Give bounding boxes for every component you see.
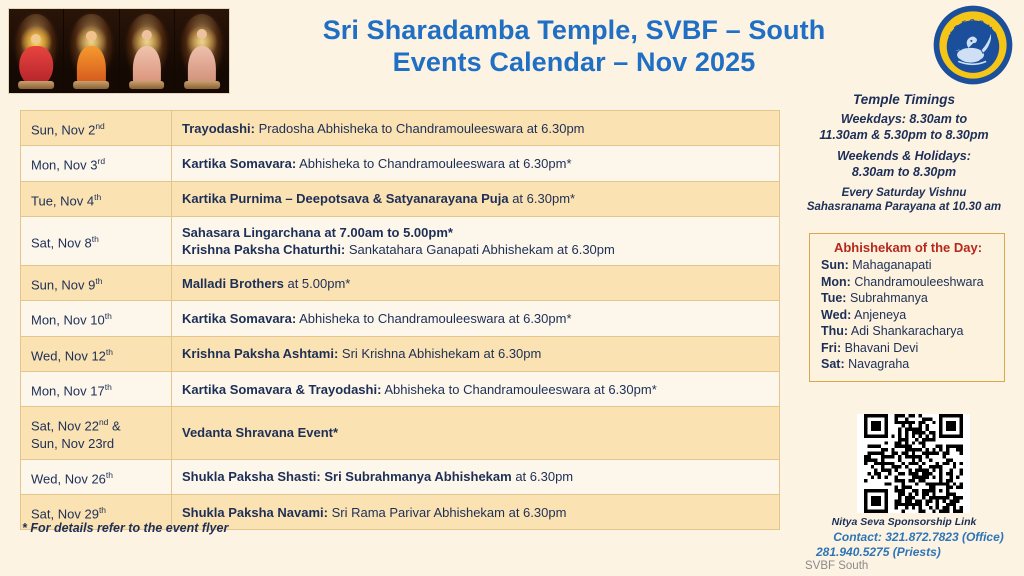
qr-code-icon[interactable] xyxy=(857,414,970,513)
deity-panel-sharadamba xyxy=(9,9,64,93)
event-description-cell: Shukla Paksha Navami: Sri Rama Parivar A… xyxy=(172,494,780,529)
event-date-cell: Sun, Nov 2nd xyxy=(21,111,172,146)
event-line: Krishna Paksha Ashtami: Sri Krishna Abhi… xyxy=(182,345,769,362)
abhishekam-day-row: Sat: Navagraha xyxy=(821,356,995,373)
event-detail: Pradosha Abhisheka to Chandramouleeswara… xyxy=(255,121,585,136)
event-name: Kartika Somavara: xyxy=(182,311,296,326)
temple-timings-title: Temple Timings xyxy=(790,92,1018,107)
svbf-south-swan-emblem-icon: S V B F S O U T H xyxy=(932,4,1014,86)
events-table-body: Sun, Nov 2ndTrayodashi: Pradosha Abhishe… xyxy=(21,111,780,530)
event-description-cell: Kartika Somavara & Trayodashi: Abhisheka… xyxy=(172,371,780,406)
abhishekam-day-row: Wed: Anjeneya xyxy=(821,307,995,324)
abhishekam-deity-name: Chandramouleeshwara xyxy=(851,275,984,289)
table-row: Mon, Nov 3rdKartika Somavara: Abhisheka … xyxy=(21,146,780,181)
abhishekam-day-label: Thu: xyxy=(821,324,848,338)
abhishekam-day-row: Thu: Adi Shankaracharya xyxy=(821,323,995,340)
event-description-cell: Kartika Purnima – Deepotsava & Satyanara… xyxy=(172,181,780,216)
event-line: Shukla Paksha Navami: Sri Rama Parivar A… xyxy=(182,504,769,521)
event-date-cell: Wed, Nov 26th xyxy=(21,459,172,494)
event-date-cell: Wed, Nov 12th xyxy=(21,336,172,371)
event-name: Shukla Paksha Shasti: Sri Subrahmanya Ab… xyxy=(182,469,512,484)
saturday-parayana-line-2: Sahasranama Parayana at 10.30 am xyxy=(790,200,1018,214)
weekend-timing-line-2: 8.30am to 8.30pm xyxy=(790,165,1018,181)
table-row: Sat, Nov 8thSahasara Lingarchana at 7.00… xyxy=(21,216,780,265)
abhishekam-deity-name: Adi Shankaracharya xyxy=(848,324,963,338)
event-name: Malladi Brothers xyxy=(182,276,284,291)
event-description-cell: Malladi Brothers at 5.00pm* xyxy=(172,265,780,300)
table-footnote: * For details refer to the event flyer xyxy=(22,521,228,535)
abhishekam-day-label: Sun: xyxy=(821,258,849,272)
event-line: Kartika Somavara: Abhisheka to Chandramo… xyxy=(182,155,769,172)
event-description-cell: Kartika Somavara: Abhisheka to Chandramo… xyxy=(172,301,780,336)
abhishekam-day-label: Fri: xyxy=(821,341,841,355)
event-description-cell: Kartika Somavara: Abhisheka to Chandramo… xyxy=(172,146,780,181)
event-detail: at 6.30pm xyxy=(512,469,573,484)
abhishekam-day-label: Sat: xyxy=(821,357,845,371)
contact-priests-line: 281.940.5275 (Priests) xyxy=(816,545,1021,560)
event-detail: Sri Rama Parivar Abhishekam at 6.30pm xyxy=(328,505,566,520)
event-date-cell: Tue, Nov 4th xyxy=(21,181,172,216)
abhishekam-deity-name: Bhavani Devi xyxy=(841,341,918,355)
table-row: Mon, Nov 17thKartika Somavara & Trayodas… xyxy=(21,371,780,406)
event-description-cell: Shukla Paksha Shasti: Sri Subrahmanya Ab… xyxy=(172,459,780,494)
event-name: Krishna Paksha Chaturthi: xyxy=(182,242,345,257)
deity-panel-adi-shankaracharya xyxy=(64,9,119,93)
event-date-cell: Sat, Nov 8th xyxy=(21,216,172,265)
event-line: Kartika Somavara: Abhisheka to Chandramo… xyxy=(182,310,769,327)
table-row: Wed, Nov 12thKrishna Paksha Ashtami: Sri… xyxy=(21,336,780,371)
temple-timings-section: Temple Timings Weekdays: 8.30am to 11.30… xyxy=(790,92,1018,214)
abhishekam-day-label: Mon: xyxy=(821,275,851,289)
table-row: Tue, Nov 4thKartika Purnima – Deepotsava… xyxy=(21,181,780,216)
abhishekam-day-label: Wed: xyxy=(821,308,851,322)
event-detail: Abhisheka to Chandramouleeswara at 6.30p… xyxy=(296,311,571,326)
event-line: Krishna Paksha Chaturthi: Sankatahara Ga… xyxy=(182,241,769,258)
event-detail: Sri Krishna Abhishekam at 6.30pm xyxy=(338,346,541,361)
event-detail: Abhisheka to Chandramouleeswara at 6.30p… xyxy=(296,156,571,171)
title-line-1: Sri Sharadamba Temple, SVBF – South xyxy=(236,14,912,46)
event-description-cell: Krishna Paksha Ashtami: Sri Krishna Abhi… xyxy=(172,336,780,371)
weekend-timing-line-1: Weekends & Holidays: xyxy=(790,149,1018,165)
weekday-timing-line-2: 11.30am & 5.30pm to 8.30pm xyxy=(790,128,1018,144)
event-detail: at 6.30pm* xyxy=(509,191,576,206)
event-description-cell: Trayodashi: Pradosha Abhisheka to Chandr… xyxy=(172,111,780,146)
abhishekam-of-the-day-box: Abhishekam of the Day: Sun: Mahaganapati… xyxy=(809,233,1005,382)
saturday-parayana-line-1: Every Saturday Vishnu xyxy=(790,186,1018,200)
header-deity-image xyxy=(8,8,230,94)
abhishekam-day-row: Tue: Subrahmanya xyxy=(821,290,995,307)
event-description-cell: Sahasara Lingarchana at 7.00am to 5.00pm… xyxy=(172,216,780,265)
event-description-cell: Vedanta Shravana Event* xyxy=(172,407,780,459)
contact-office-line: Contact: 321.872.7823 (Office) xyxy=(816,530,1021,545)
abhishekam-day-label: Tue: xyxy=(821,291,846,305)
event-detail: at 5.00pm* xyxy=(284,276,351,291)
table-row: Wed, Nov 26thShukla Paksha Shasti: Sri S… xyxy=(21,459,780,494)
event-line: Vedanta Shravana Event* xyxy=(182,424,769,441)
table-row: Sun, Nov 2ndTrayodashi: Pradosha Abhishe… xyxy=(21,111,780,146)
event-date-cell: Sun, Nov 9th xyxy=(21,265,172,300)
title-line-2: Events Calendar – Nov 2025 xyxy=(236,46,912,78)
event-line: Trayodashi: Pradosha Abhisheka to Chandr… xyxy=(182,120,769,137)
qr-caption: Nitya Seva Sponsorship Link xyxy=(790,516,1018,528)
event-date-cell: Sat, Nov 22nd &Sun, Nov 23rd xyxy=(21,407,172,459)
table-row: Sun, Nov 9thMalladi Brothers at 5.00pm* xyxy=(21,265,780,300)
deity-panel-guru-2 xyxy=(175,9,229,93)
abhishekam-day-row: Fri: Bhavani Devi xyxy=(821,340,995,357)
svbf-south-footer-label: SVBF South xyxy=(805,560,868,572)
event-name: Kartika Purnima – Deepotsava & Satyanara… xyxy=(182,191,509,206)
event-name: Vedanta Shravana Event* xyxy=(182,425,338,440)
table-row: Sat, Nov 22nd &Sun, Nov 23rdVedanta Shra… xyxy=(21,407,780,459)
events-calendar-table: Sun, Nov 2ndTrayodashi: Pradosha Abhishe… xyxy=(20,110,780,530)
contact-block: Contact: 321.872.7823 (Office) 281.940.5… xyxy=(816,530,1021,560)
svbf-south-logo: S V B F S O U T H xyxy=(932,4,1014,86)
event-line: Malladi Brothers at 5.00pm* xyxy=(182,275,769,292)
event-name: Kartika Somavara: xyxy=(182,156,296,171)
event-name: Kartika Somavara & Trayodashi: xyxy=(182,382,381,397)
event-date-cell: Mon, Nov 10th xyxy=(21,301,172,336)
event-name: Sahasara Lingarchana at 7.00am to 5.00pm… xyxy=(182,225,453,240)
event-name: Trayodashi: xyxy=(182,121,255,136)
event-detail: Abhisheka to Chandramouleeswara at 6.30p… xyxy=(381,382,656,397)
weekday-timing-line-1: Weekdays: 8.30am to xyxy=(790,112,1018,128)
event-line: Shukla Paksha Shasti: Sri Subrahmanya Ab… xyxy=(182,468,769,485)
event-line: Sahasara Lingarchana at 7.00am to 5.00pm… xyxy=(182,224,769,241)
abhishekam-deity-name: Anjeneya xyxy=(851,308,906,322)
event-name: Shukla Paksha Navami: xyxy=(182,505,328,520)
abhishekam-deity-name: Mahaganapati xyxy=(849,258,932,272)
event-line: Kartika Somavara & Trayodashi: Abhisheka… xyxy=(182,381,769,398)
event-date-cell: Mon, Nov 17th xyxy=(21,371,172,406)
deity-panel-guru-1 xyxy=(120,9,175,93)
qr-code-matrix xyxy=(857,414,970,513)
abhishekam-deity-name: Navagraha xyxy=(845,357,910,371)
abhishekam-day-list: Sun: MahaganapatiMon: Chandramouleeshwar… xyxy=(821,257,995,373)
event-line: Kartika Purnima – Deepotsava & Satyanara… xyxy=(182,190,769,207)
abhishekam-box-title: Abhishekam of the Day: xyxy=(821,240,995,255)
table-row: Mon, Nov 10thKartika Somavara: Abhisheka… xyxy=(21,301,780,336)
abhishekam-day-row: Mon: Chandramouleeshwara xyxy=(821,274,995,291)
event-detail: Sankatahara Ganapati Abhishekam at 6.30p… xyxy=(345,242,615,257)
event-name: Krishna Paksha Ashtami: xyxy=(182,346,338,361)
event-date-cell: Mon, Nov 3rd xyxy=(21,146,172,181)
abhishekam-day-row: Sun: Mahaganapati xyxy=(821,257,995,274)
abhishekam-deity-name: Subrahmanya xyxy=(846,291,927,305)
page-title: Sri Sharadamba Temple, SVBF – South Even… xyxy=(236,14,912,78)
